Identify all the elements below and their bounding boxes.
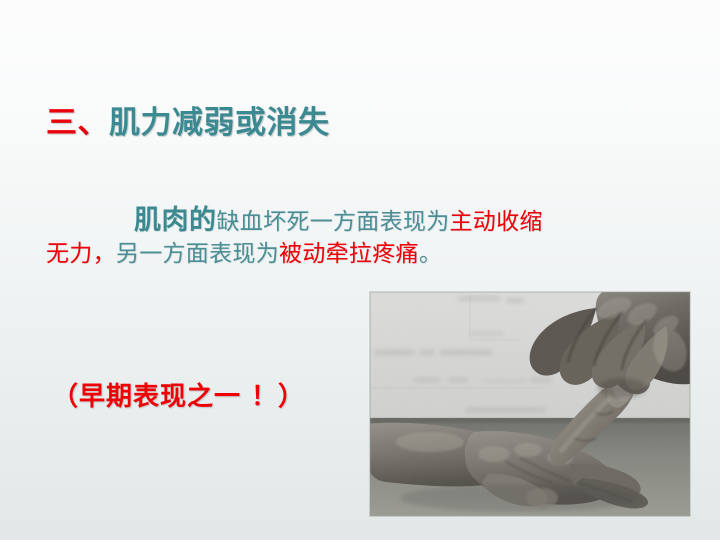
title-number: 三、 xyxy=(46,105,109,141)
clinical-photo-image xyxy=(370,292,690,516)
slide-canvas: 三、肌力减弱或消失 肌肉的缺血坏死一方面表现为主动收缩 无力，另一方面表现为被动… xyxy=(0,0,720,540)
body-text-teal-b: 另一方面表现为 xyxy=(116,241,279,267)
body-line-1: 肌肉的缺血坏死一方面表现为主动收缩 xyxy=(46,203,682,238)
body-text-red-c: 被动牵拉疼痛 xyxy=(279,241,419,267)
page-title: 三、肌力减弱或消失 xyxy=(46,104,330,143)
body-text-teal-a: 缺血坏死一方面表现为 xyxy=(217,209,450,235)
body-lead-emphasis: 肌肉的 xyxy=(134,205,217,236)
body-text-period: 。 xyxy=(419,241,442,267)
body-paragraph: 肌肉的缺血坏死一方面表现为主动收缩 无力，另一方面表现为被动牵拉疼痛。 xyxy=(46,203,682,270)
title-text: 肌力减弱或消失 xyxy=(109,105,330,141)
body-line-2: 无力，另一方面表现为被动牵拉疼痛。 xyxy=(46,240,682,270)
body-text-red-b: 无力， xyxy=(46,241,116,267)
clinical-photo xyxy=(370,292,690,516)
emphasis-note: （早期表现之一 ！） xyxy=(52,376,305,413)
body-text-red-a: 主动收缩 xyxy=(450,209,543,235)
